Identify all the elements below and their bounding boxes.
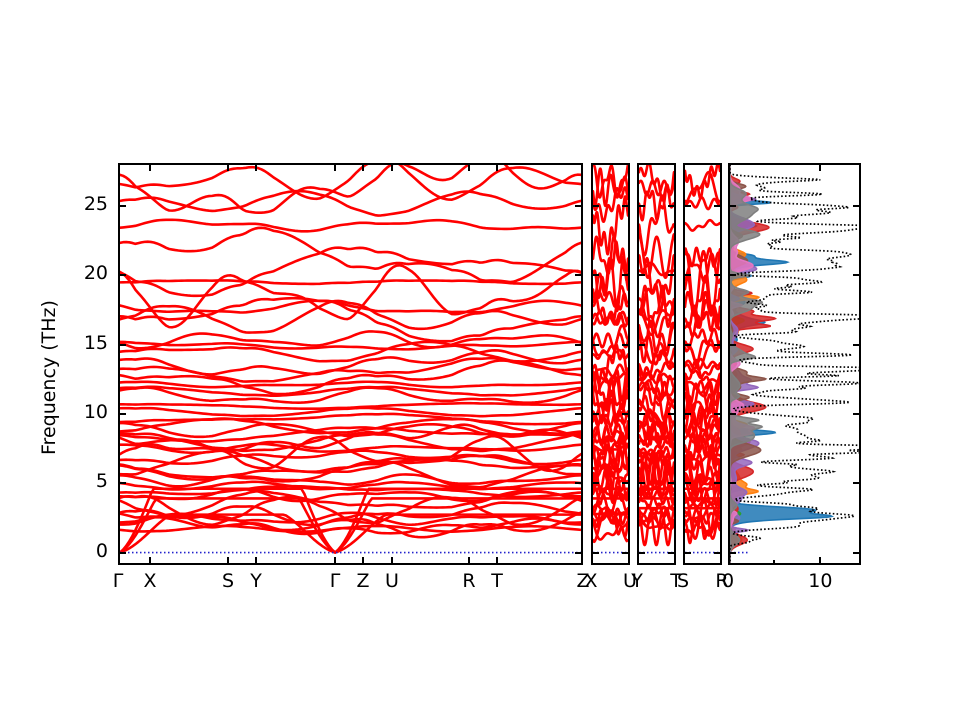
y-tick-mark <box>622 413 630 415</box>
y-tick-mark <box>714 552 722 554</box>
x-tick-label-y: Y <box>242 570 270 592</box>
y-tick-mark <box>853 482 861 484</box>
y-tick-mark <box>591 413 599 415</box>
x-tick-mark <box>496 163 498 171</box>
y-tick-mark <box>118 274 126 276</box>
y-tick-mark <box>118 344 126 346</box>
y-tick-mark <box>622 552 630 554</box>
y-tick-mark <box>591 344 599 346</box>
y-tick-mark <box>853 205 861 207</box>
x-tick-mark <box>255 557 257 565</box>
y-tick-mark <box>728 482 736 484</box>
x-tick-mark <box>391 557 393 565</box>
x-tick-label-x: X <box>136 570 164 592</box>
y-tick-mark <box>591 482 599 484</box>
y-tick-mark <box>683 274 691 276</box>
y-tick-mark <box>622 344 630 346</box>
y-tick-mark <box>728 344 736 346</box>
y-tick-mark <box>622 205 630 207</box>
x-tick-mark <box>334 163 336 171</box>
x-tick-mark <box>468 557 470 565</box>
y-tick-mark <box>714 344 722 346</box>
y-tick-mark <box>668 274 676 276</box>
y-tick-mark <box>668 344 676 346</box>
phonon-band <box>120 496 581 525</box>
x-tick-mark <box>391 163 393 171</box>
y-tick-mark <box>714 274 722 276</box>
y-tick-mark <box>118 205 126 207</box>
y-tick-mark <box>118 482 126 484</box>
y-tick-mark <box>714 413 722 415</box>
phonon-band <box>120 382 581 387</box>
y-tick-mark <box>728 274 736 276</box>
y-tick-mark <box>637 482 645 484</box>
y-tick-mark <box>714 482 722 484</box>
y-tick-mark <box>728 205 736 207</box>
x-tick-mark <box>149 557 151 565</box>
y-tick-mark <box>853 413 861 415</box>
y-tick-mark <box>637 413 645 415</box>
panel-xu-bands <box>593 165 628 563</box>
x-tick-label-s: S <box>669 570 697 592</box>
y-tick-mark <box>853 274 861 276</box>
y-tick-mark <box>575 552 583 554</box>
x-tick-label-s: S <box>214 570 242 592</box>
phonon-band <box>685 220 720 230</box>
y-tick-mark <box>575 482 583 484</box>
x-tick-label-x: X <box>577 570 605 592</box>
y-tick-mark <box>575 274 583 276</box>
phonon-band <box>120 403 581 409</box>
phonon-band <box>685 197 720 209</box>
phonon-band <box>120 342 581 350</box>
phonon-bandstructure-dos-figure: Frequency (THz) 0510152025 ΓXSYΓZURTZXUY… <box>0 0 960 720</box>
y-tick-label: 10 <box>70 401 108 423</box>
x-tick-mark <box>149 163 151 171</box>
phonon-band <box>120 228 581 282</box>
y-tick-mark <box>728 413 736 415</box>
phonon-band <box>120 220 581 232</box>
x-tick-mark <box>227 163 229 171</box>
y-tick-mark <box>683 552 691 554</box>
y-tick-label: 0 <box>70 540 108 562</box>
y-tick-mark <box>728 552 736 554</box>
y-tick-mark <box>118 552 126 554</box>
y-axis-label: Frequency (THz) <box>38 300 60 455</box>
dos-x-minor-tick <box>773 560 775 565</box>
y-tick-mark <box>591 205 599 207</box>
panel-sr-bands <box>685 165 720 563</box>
y-tick-mark <box>714 205 722 207</box>
dos-x-tick-mark <box>819 557 821 565</box>
y-tick-mark <box>668 205 676 207</box>
y-tick-mark <box>591 552 599 554</box>
y-tick-mark <box>575 344 583 346</box>
phonon-band <box>120 248 581 296</box>
x-tick-mark <box>255 163 257 171</box>
y-tick-mark <box>637 344 645 346</box>
y-tick-label: 25 <box>70 193 108 215</box>
y-tick-mark <box>668 552 676 554</box>
y-tick-mark <box>637 205 645 207</box>
y-tick-mark <box>637 274 645 276</box>
x-tick-mark <box>362 163 364 171</box>
y-tick-mark <box>683 413 691 415</box>
y-tick-label: 15 <box>70 332 108 354</box>
dos-x-tick-mark <box>819 163 821 171</box>
y-tick-mark <box>622 482 630 484</box>
dos-x-tick-label: 10 <box>804 570 836 592</box>
x-tick-mark <box>334 557 336 565</box>
y-tick-mark <box>622 274 630 276</box>
y-tick-mark <box>683 205 691 207</box>
y-tick-mark <box>853 344 861 346</box>
x-tick-mark <box>362 557 364 565</box>
phonon-band <box>120 165 581 213</box>
panel-yt-bands <box>639 165 674 563</box>
y-tick-mark <box>575 413 583 415</box>
x-tick-label-z: Z <box>349 570 377 592</box>
x-tick-label-gamma: Γ <box>104 570 132 592</box>
x-tick-label-y: Y <box>623 570 651 592</box>
x-tick-label-u: U <box>378 570 406 592</box>
panel-main-bands <box>120 165 581 563</box>
y-tick-mark <box>575 205 583 207</box>
x-tick-label-t: T <box>483 570 511 592</box>
x-tick-label-gamma: Γ <box>321 570 349 592</box>
y-tick-mark <box>668 482 676 484</box>
x-tick-mark <box>227 557 229 565</box>
y-tick-mark <box>637 552 645 554</box>
y-tick-mark <box>853 552 861 554</box>
y-tick-mark <box>683 482 691 484</box>
y-tick-mark <box>683 344 691 346</box>
y-tick-label: 20 <box>70 262 108 284</box>
y-tick-mark <box>591 274 599 276</box>
x-tick-mark <box>496 557 498 565</box>
y-tick-mark <box>668 413 676 415</box>
panel-dos-curves <box>730 165 859 563</box>
dos-x-tick-label: 0 <box>712 570 744 592</box>
x-tick-mark <box>468 163 470 171</box>
y-tick-mark <box>118 413 126 415</box>
x-tick-label-r: R <box>455 570 483 592</box>
y-tick-label: 5 <box>70 470 108 492</box>
